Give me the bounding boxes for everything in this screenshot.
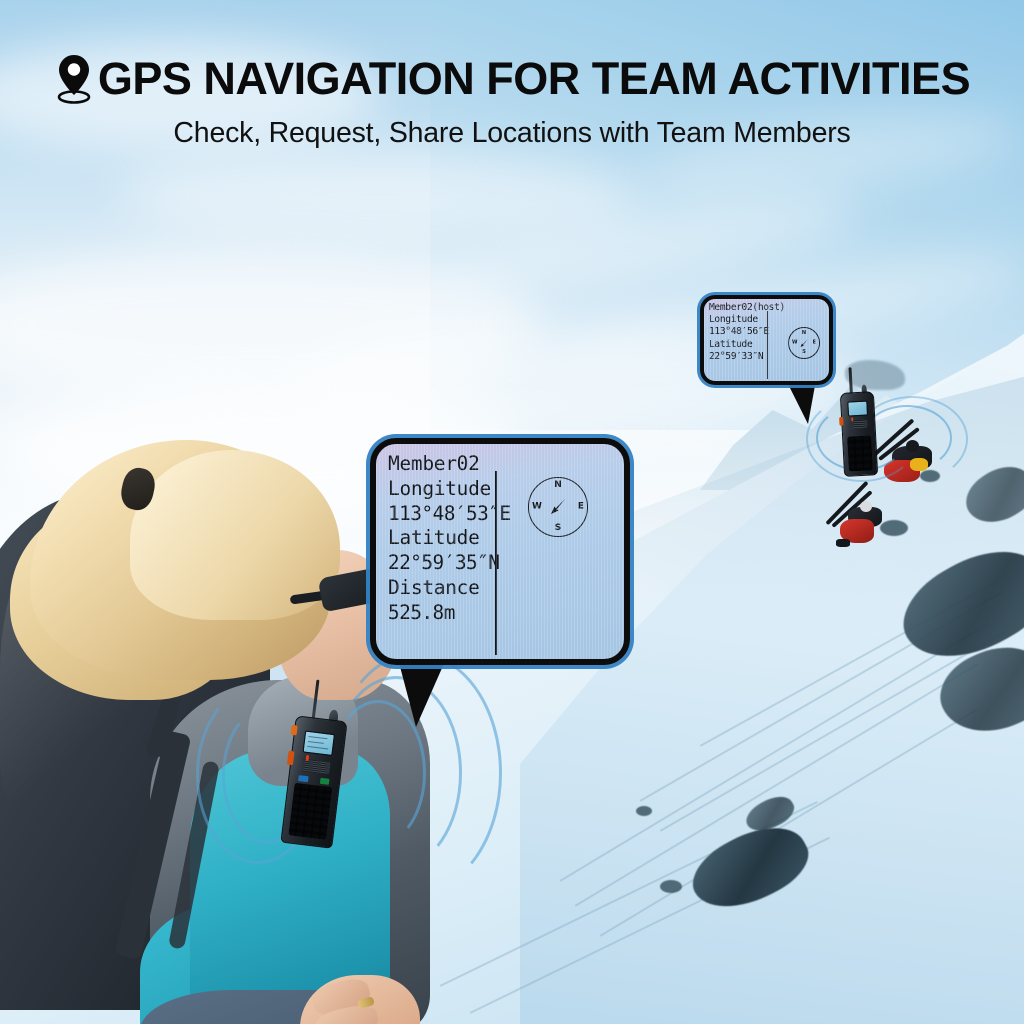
compass-east-label: E	[813, 341, 816, 346]
compass-needle-icon	[797, 336, 811, 350]
gps-card-member-fields: Member02 Longitude 113°48′53″E Latitude …	[376, 444, 505, 665]
compass-west-label: W	[532, 503, 542, 512]
longitude-value: 113°48′53″E	[388, 503, 505, 525]
latitude-label: Latitude	[388, 527, 505, 549]
radio-led	[851, 417, 853, 420]
skier-head	[860, 501, 872, 512]
member-name: Member02(host)	[709, 303, 771, 314]
compass-north-label: N	[554, 481, 562, 490]
compass-east-label: E	[578, 503, 584, 512]
latitude-value: 22°59′35″N	[388, 552, 505, 574]
gps-card-host[interactable]: Member02(host) Longitude 113°48′56″E Lat…	[700, 295, 833, 385]
compass-south-label: S	[555, 524, 561, 533]
compass-south-label: S	[802, 350, 806, 355]
gps-card-member[interactable]: Member02 Longitude 113°48′53″E Latitude …	[370, 438, 630, 665]
radio-led	[305, 755, 309, 760]
radio-keypad	[289, 782, 333, 840]
map-pin-icon	[54, 52, 94, 104]
compass-icon: N S W E	[528, 477, 588, 537]
header: GPS NAVIGATION FOR TEAM ACTIVITIES Check…	[0, 0, 1024, 150]
gps-card-host-fields: Member02(host) Longitude 113°48′56″E Lat…	[704, 299, 771, 385]
radio-screen	[848, 401, 868, 416]
latitude-label: Latitude	[709, 340, 771, 351]
distance-value: 525.8m	[388, 602, 505, 624]
radio-ptt-button	[839, 416, 843, 425]
latitude-value: 22°59′33″N	[709, 352, 771, 363]
radio-screen	[303, 731, 335, 756]
page-title: GPS NAVIGATION FOR TEAM ACTIVITIES	[98, 56, 970, 101]
radio-label-blue	[298, 775, 308, 782]
card-divider	[767, 311, 768, 379]
radio-screen-line	[308, 741, 324, 744]
page-subtitle: Check, Request, Share Locations with Tea…	[0, 117, 1024, 150]
compass-needle-icon	[545, 494, 571, 520]
longitude-label: Longitude	[709, 315, 771, 326]
longitude-label: Longitude	[388, 478, 505, 500]
rock-small	[660, 880, 682, 893]
compass-icon: N S W E	[788, 327, 820, 359]
promo-image: Member02(host) Longitude 113°48′56″E Lat…	[0, 0, 1024, 1024]
card-divider	[495, 471, 497, 655]
member-name: Member02	[388, 453, 505, 475]
radio-screen-line	[307, 746, 328, 750]
longitude-value: 113°48′56″E	[709, 327, 771, 338]
title-row: GPS NAVIGATION FOR TEAM ACTIVITIES	[0, 52, 1024, 104]
rock-small	[636, 806, 652, 816]
distance-label: Distance	[388, 577, 505, 599]
radio-screen-line	[309, 736, 328, 739]
radio-keypad	[847, 435, 873, 471]
main-card-tail	[398, 659, 446, 727]
handheld-radio-remote	[840, 391, 878, 477]
radio-label-green	[320, 778, 329, 785]
skier-boot	[836, 539, 850, 547]
skier-lower	[834, 485, 904, 547]
small-card-tail	[786, 380, 816, 424]
